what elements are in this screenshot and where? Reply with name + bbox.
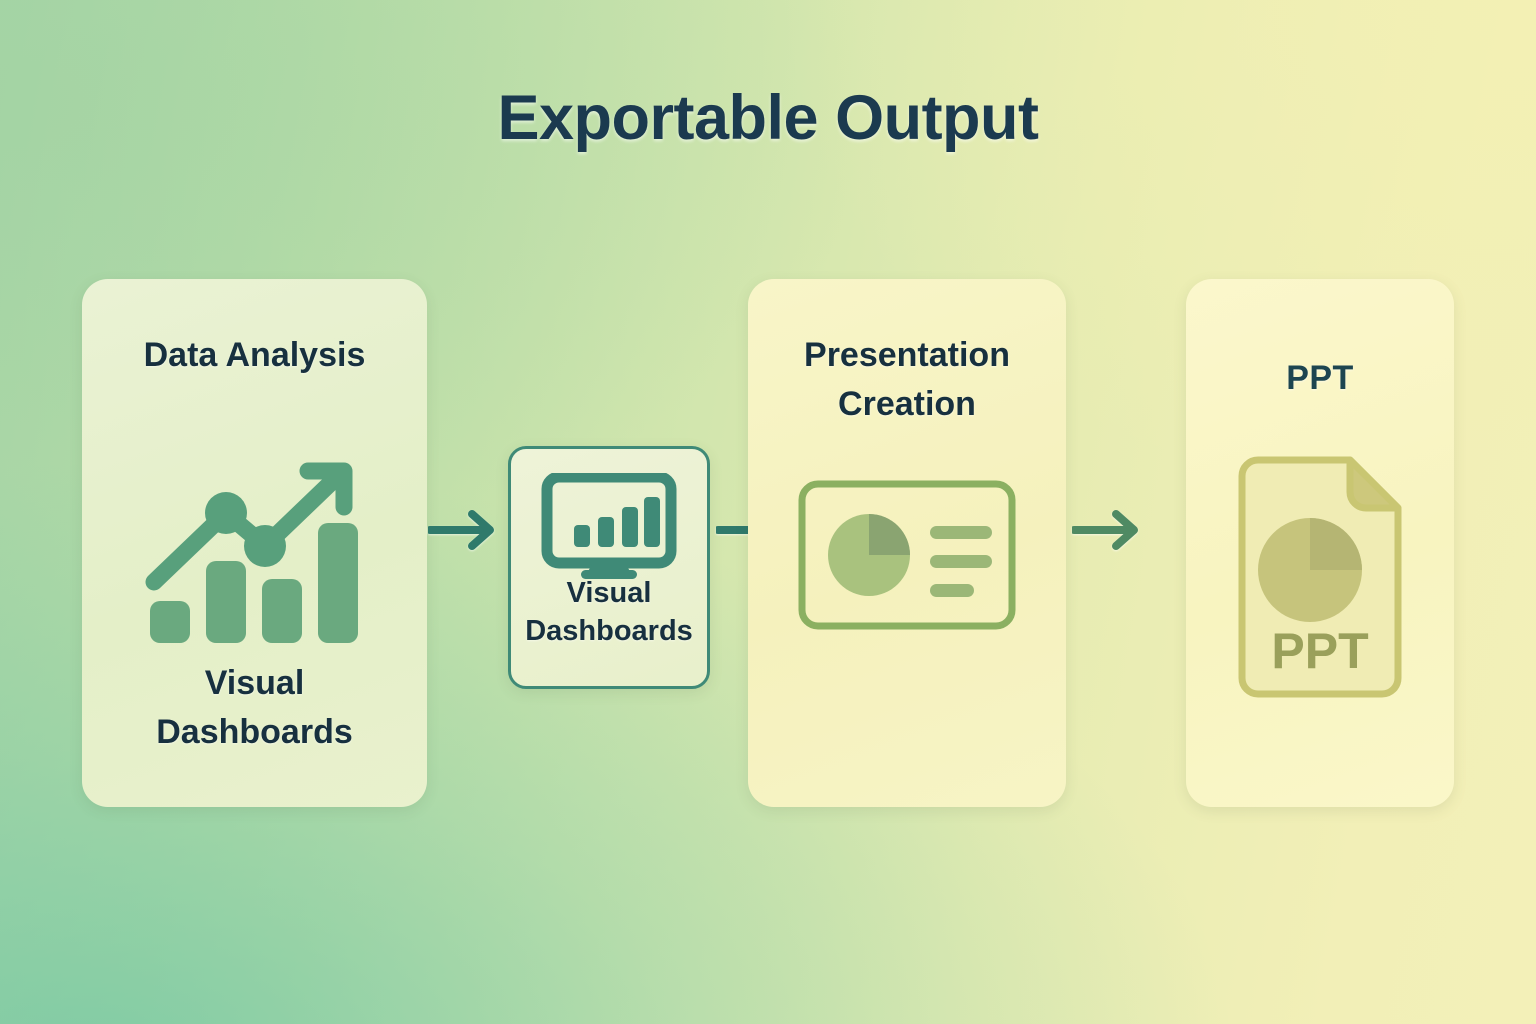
card-title-data-analysis: Data Analysis	[82, 331, 427, 380]
arrow-right-icon-3	[1072, 505, 1148, 560]
growth-bar-chart-icon	[140, 449, 370, 654]
ppt-file-icon: PPT	[1228, 454, 1412, 705]
caption-line-1: Visual	[82, 659, 427, 708]
caption-line-2: Dashboards	[82, 708, 427, 757]
card-presentation-creation[interactable]: Presentation Creation	[748, 279, 1066, 807]
card-visual-dashboards[interactable]: Visual Dashboards	[508, 446, 710, 689]
card-data-analysis[interactable]: Data Analysis Visual Dashboards	[82, 279, 427, 807]
caption-line-1: Visual	[511, 574, 707, 612]
title-line-2: Creation	[748, 380, 1066, 429]
card-title-presentation-creation: Presentation Creation	[748, 331, 1066, 430]
card-ppt[interactable]: PPT PPT	[1186, 279, 1454, 807]
page-title: Exportable Output	[0, 82, 1536, 154]
monitor-dashboard-icon	[541, 473, 677, 584]
card-caption-data-analysis: Visual Dashboards	[82, 659, 427, 758]
slide-pie-chart-icon	[797, 479, 1017, 636]
caption-line-2: Dashboards	[511, 612, 707, 650]
card-caption-visual-dashboards: Visual Dashboards	[511, 574, 707, 651]
arrow-right-icon-1	[428, 505, 504, 560]
ppt-file-icon-label: PPT	[1271, 623, 1368, 679]
card-title-ppt: PPT	[1186, 354, 1454, 403]
slide-canvas: Exportable Output Data Analysis Vi	[0, 0, 1536, 1024]
title-line-1: Presentation	[748, 331, 1066, 380]
